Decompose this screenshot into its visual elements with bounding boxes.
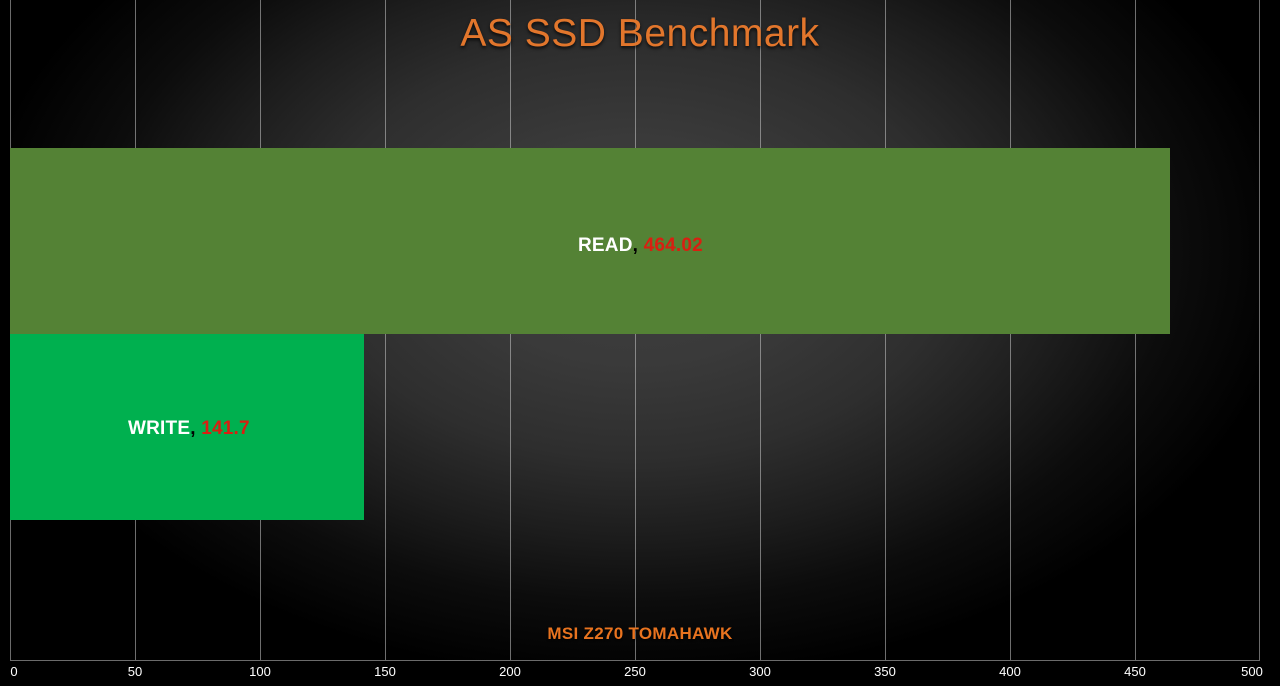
x-axis-tick-label: 0 — [10, 664, 17, 679]
bar-label-write: WRITE, 141.7 — [128, 418, 250, 440]
bar-label-read-name: READ — [578, 235, 633, 256]
x-axis-tick-label: 50 — [128, 664, 142, 679]
x-axis-tick-label: 150 — [374, 664, 396, 679]
plot-axis-line-right — [1259, 0, 1260, 661]
x-axis-tick-label: 250 — [624, 664, 646, 679]
chart-container: READ, 464.02 WRITE, 141.7 AS SSD Benchma… — [0, 0, 1280, 686]
x-axis-tick-label: 400 — [999, 664, 1021, 679]
bar-label-write-name: WRITE — [128, 418, 190, 439]
x-axis-tick-label: 100 — [249, 664, 271, 679]
x-axis-tick-label: 350 — [874, 664, 896, 679]
x-axis-tick-label: 300 — [749, 664, 771, 679]
x-axis-tick-label: 450 — [1124, 664, 1146, 679]
x-axis-tick-label: 500 — [1241, 664, 1263, 679]
bar-label-read-separator: , — [633, 235, 638, 256]
x-axis: 050100150200250300350400450500 — [0, 664, 1280, 686]
chart-caption: MSI Z270 TOMAHAWK — [0, 624, 1280, 644]
x-axis-tick-label: 200 — [499, 664, 521, 679]
bar-label-write-separator: , — [190, 418, 195, 439]
bar-label-write-value: 141.7 — [201, 418, 250, 439]
plot-axis-line-bottom — [10, 660, 1260, 661]
bar-label-read: READ, 464.02 — [578, 235, 703, 257]
chart-title: AS SSD Benchmark — [0, 12, 1280, 56]
bar-label-read-value: 464.02 — [644, 235, 703, 256]
